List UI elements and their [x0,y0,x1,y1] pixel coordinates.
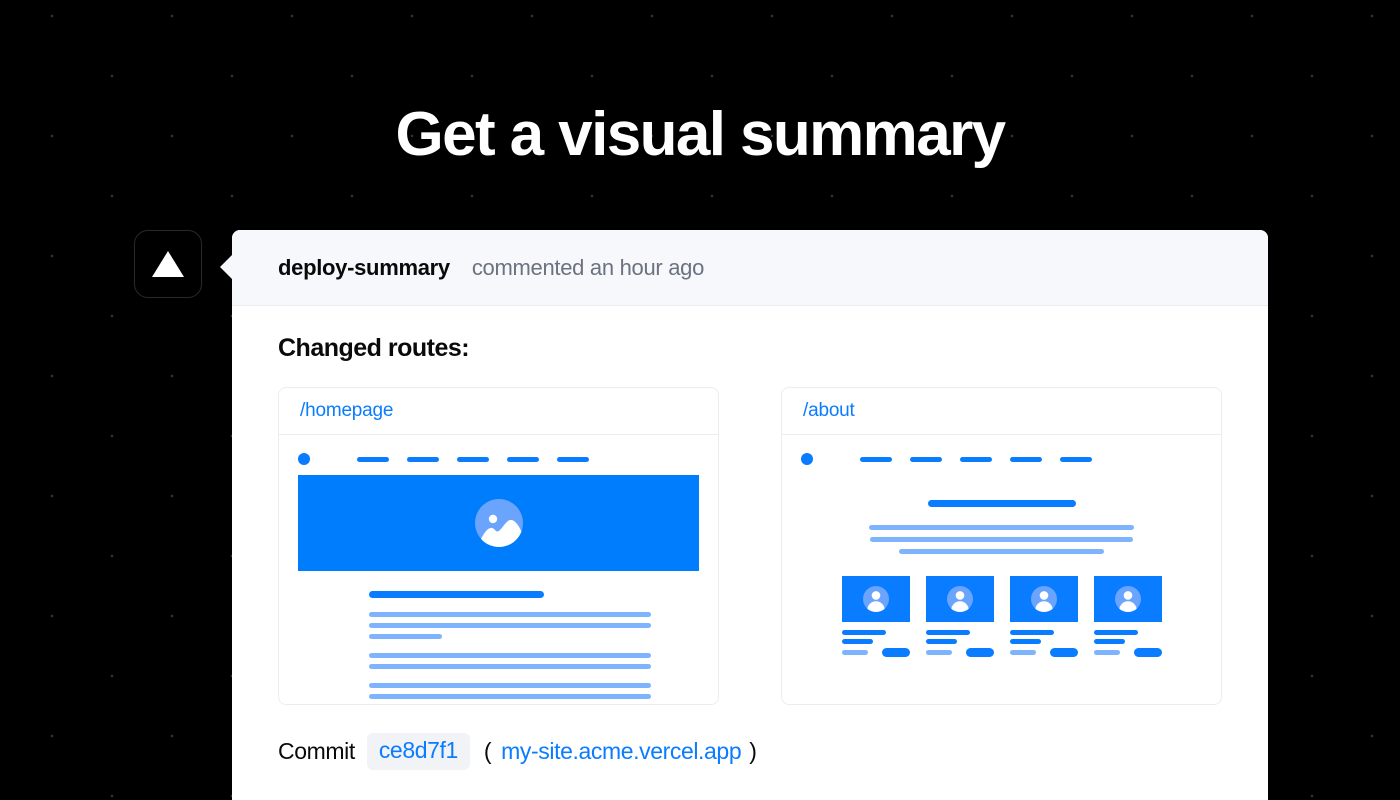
wireframe-team-card-footer [842,648,910,657]
wireframe-text-line [369,634,442,639]
route-link-about[interactable]: /about [803,400,855,422]
wireframe-team-card-text [842,630,910,657]
wireframe-heading-bar [369,591,544,598]
wireframe-logo-dot [801,453,813,465]
commit-row: Commit ce8d7f1 ( my-site.acme.vercel.app… [278,733,1222,770]
wireframe-text-line [1010,630,1054,635]
wireframe-text-line [1094,639,1125,644]
route-preview-about[interactable]: /about [781,387,1222,705]
wireframe-text-line [926,630,970,635]
wireframe-logo-dot [298,453,310,465]
comment-body: Changed routes: /homepage [232,306,1268,770]
wireframe-paragraph-block [369,612,699,639]
wireframe-paragraph-block [869,525,1134,554]
wireframe-team-card-image [842,576,910,622]
wireframe-button-pill [1050,648,1078,657]
wireframe-button-pill [966,648,994,657]
route-preview-header: /homepage [279,388,718,435]
wireframe-text-line [869,525,1134,530]
wireframe-text-line [926,639,957,644]
commit-paren-close: ) [749,738,756,765]
commit-hash-chip[interactable]: ce8d7f1 [367,733,470,770]
wireframe-nav-link [507,457,539,462]
wireframe-team-card-footer [1010,648,1078,657]
wireframe-team-card-text [926,630,994,657]
route-preview-wireframe-about [782,435,1221,704]
wireframe-centered-content [801,475,1202,705]
wireframe-team-card-footer [1094,648,1162,657]
wireframe-button-pill [882,648,910,657]
wireframe-nav-links [860,457,1092,462]
comment-author[interactable]: deploy-summary [278,255,450,281]
wireframe-team-card-text [1094,630,1162,657]
wireframe-team-card-image [1094,576,1162,622]
wireframe-button-pill [1134,648,1162,657]
wireframe-team-card-text [1010,630,1078,657]
wireframe-team-card-image [1010,576,1078,622]
route-preview-homepage[interactable]: /homepage [278,387,719,705]
wireframe-nav-link [557,457,589,462]
route-preview-list: /homepage [278,387,1222,705]
person-placeholder-icon [863,586,889,612]
route-link-homepage[interactable]: /homepage [300,400,393,422]
wireframe-nav-link [1060,457,1092,462]
person-placeholder-icon [1115,586,1141,612]
commit-paren-open: ( [484,738,491,765]
wireframe-team-card-footer [926,648,994,657]
wireframe-text-line [842,639,873,644]
wireframe-team-card [1010,576,1078,657]
wireframe-text-line [369,664,651,669]
wireframe-nav-link [407,457,439,462]
wireframe-paragraph-block [369,653,699,669]
wireframe-nav-link [457,457,489,462]
wireframe-text-line [1010,650,1036,655]
wireframe-text-line [1010,639,1041,644]
person-placeholder-icon [947,586,973,612]
wireframe-paragraph-block [369,683,699,705]
wireframe-nav-link [860,457,892,462]
wireframe-text-line [1094,630,1138,635]
wireframe-text-line [899,549,1104,554]
person-placeholder-icon [1031,586,1057,612]
avatar [134,230,202,298]
image-placeholder-icon [475,499,523,547]
wireframe-text-line [369,694,651,699]
wireframe-nav-link [357,457,389,462]
deployment-url-link[interactable]: my-site.acme.vercel.app [501,738,741,765]
wireframe-team-card-image [926,576,994,622]
wireframe-nav-links [357,457,589,462]
wireframe-navbar [801,449,1202,469]
comment-timestamp: commented an hour ago [472,255,704,281]
commit-label: Commit [278,738,355,765]
wireframe-text-line [369,612,651,617]
wireframe-text-line [369,653,651,658]
route-preview-header: /about [782,388,1221,435]
route-preview-wireframe-homepage [279,435,718,704]
wireframe-nav-link [1010,457,1042,462]
wireframe-text-line [369,623,651,628]
wireframe-team-card [926,576,994,657]
wireframe-heading-bar [928,500,1076,507]
vercel-triangle-logo-icon [151,249,185,279]
wireframe-text-line [870,537,1133,542]
wireframe-text-line [842,650,868,655]
comment-notch [220,254,233,280]
wireframe-text-line [1094,650,1120,655]
changed-routes-heading: Changed routes: [278,334,1222,363]
comment-card: deploy-summary commented an hour ago Cha… [232,230,1268,800]
comment-header: deploy-summary commented an hour ago [232,230,1268,306]
wireframe-text-line [926,650,952,655]
wireframe-team-card-grid [842,576,1162,657]
wireframe-text-line [842,630,886,635]
wireframe-hero-banner [298,475,699,571]
wireframe-nav-link [910,457,942,462]
wireframe-navbar [298,449,699,469]
wireframe-team-card [842,576,910,657]
wireframe-text-line [369,683,651,688]
wireframe-nav-link [960,457,992,462]
page-title: Get a visual summary [0,98,1400,172]
wireframe-team-card [1094,576,1162,657]
